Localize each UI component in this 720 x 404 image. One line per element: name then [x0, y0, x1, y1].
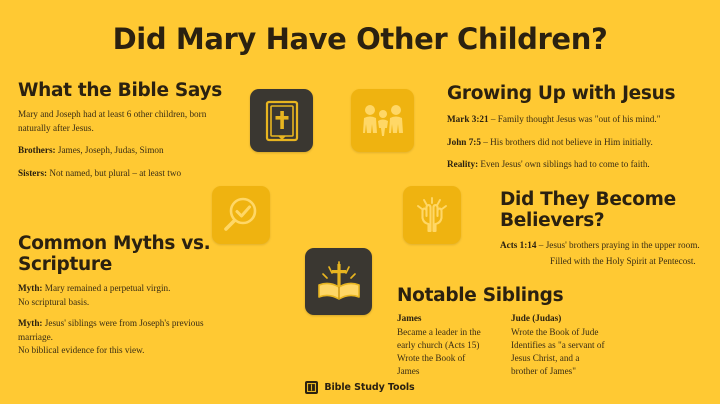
myth-1-rebuttal: No scriptural basis. — [18, 297, 89, 307]
sisters-value: Not named, but plural – at least two — [47, 168, 181, 178]
siblings-heading: Notable Siblings — [397, 285, 687, 306]
bible-says-heading: What the Bible Says — [18, 80, 233, 101]
believers-line-2: Filled with the Holy Spirit at Pentecost… — [500, 255, 705, 269]
reality-text: Even Jesus' own siblings had to come to … — [478, 159, 650, 169]
brothers-value: James, Joseph, Judas, Simon — [56, 145, 164, 155]
section-notable-siblings: Notable Siblings James Became a leader i… — [397, 285, 687, 378]
bible-says-body: Mary and Joseph had at least 6 other chi… — [18, 108, 233, 180]
growing-up-line-1: Mark 3:21 – Family thought Jesus was "ou… — [447, 113, 705, 127]
growing-up-body: Mark 3:21 – Family thought Jesus was "ou… — [447, 113, 705, 172]
acts-text: – Jesus' brothers praying in the upper r… — [537, 240, 700, 250]
bible-book-icon-glyph — [262, 99, 302, 143]
myth-2: Myth: Jesus' siblings were from Joseph's… — [18, 317, 214, 358]
believers-body: Acts 1:14 – Jesus' brothers praying in t… — [500, 239, 705, 268]
myth-2-text: Jesus' siblings were from Joseph's previ… — [18, 318, 204, 342]
reality-label: Reality: — [447, 159, 478, 169]
infographic-canvas: Did Mary Have Other Children? What the B… — [0, 0, 720, 404]
open-bible-cross-icon-glyph — [315, 259, 363, 305]
page-title: Did Mary Have Other Children? — [0, 22, 720, 56]
bible-says-brothers: Brothers: James, Joseph, Judas, Simon — [18, 144, 233, 158]
myth-1-label: Myth: — [18, 283, 43, 293]
book-mark-icon — [305, 381, 318, 394]
family-three-people-icon-glyph — [361, 101, 405, 141]
section-believers: Did They Become Believers? Acts 1:14 – J… — [500, 189, 705, 268]
sibling-column-jude: Jude (Judas) Wrote the Book of Jude Iden… — [511, 312, 631, 378]
sibling-james-line-4: James — [397, 365, 497, 378]
sibling-jude-line-4: brother of James" — [511, 365, 631, 378]
mark-reference: Mark 3:21 — [447, 114, 489, 124]
magnifier-check-icon-glyph — [221, 195, 261, 235]
siblings-columns: James Became a leader in the early churc… — [397, 312, 687, 378]
bible-says-sisters: Sisters: Not named, but plural – at leas… — [18, 167, 233, 181]
magnifier-check-icon — [212, 186, 270, 244]
acts-reference: Acts 1:14 — [500, 240, 537, 250]
book-mark-icon-glyph — [307, 383, 316, 392]
section-bible-says: What the Bible Says Mary and Joseph had … — [18, 80, 233, 180]
bible-says-intro: Mary and Joseph had at least 6 other chi… — [18, 108, 233, 135]
praying-hands-icon — [403, 186, 461, 244]
brothers-label: Brothers: — [18, 145, 56, 155]
believers-heading: Did They Become Believers? — [500, 189, 705, 231]
sibling-james-line-1: Became a leader in the — [397, 326, 497, 339]
growing-up-line-2: John 7:5 – His brothers did not believe … — [447, 136, 705, 150]
sibling-jude-line-3: Jesus Christ, and a — [511, 352, 631, 365]
sibling-jude-line-2: Identifies as "a servant of — [511, 339, 631, 352]
sibling-james-line-2: early church (Acts 15) — [397, 339, 497, 352]
john-reference: John 7:5 — [447, 137, 481, 147]
myths-heading: Common Myths vs. Scripture — [18, 233, 214, 275]
myths-body: Myth: Mary remained a perpetual virgin.N… — [18, 282, 214, 358]
sibling-column-james: James Became a leader in the early churc… — [397, 312, 497, 378]
bible-book-icon — [250, 89, 313, 152]
sibling-name-jude: Jude (Judas) — [511, 312, 631, 325]
sisters-label: Sisters: — [18, 168, 47, 178]
myth-2-label: Myth: — [18, 318, 43, 328]
growing-up-line-3: Reality: Even Jesus' own siblings had to… — [447, 158, 705, 172]
footer-brand-name: Bible Study Tools — [324, 382, 414, 393]
sibling-james-line-3: Wrote the Book of — [397, 352, 497, 365]
sibling-name-james: James — [397, 312, 497, 325]
john-text: – His brothers did not believe in Him in… — [481, 137, 653, 147]
praying-hands-icon-glyph — [411, 194, 453, 236]
section-myths: Common Myths vs. Scripture Myth: Mary re… — [18, 233, 214, 358]
sibling-jude-line-1: Wrote the Book of Jude — [511, 326, 631, 339]
family-three-people-icon — [351, 89, 414, 152]
section-growing-up: Growing Up with Jesus Mark 3:21 – Family… — [447, 83, 705, 172]
footer-branding: Bible Study Tools — [0, 381, 720, 394]
mark-text: – Family thought Jesus was "out of his m… — [489, 114, 661, 124]
myth-1-text: Mary remained a perpetual virgin. — [43, 283, 171, 293]
myth-2-rebuttal: No biblical evidence for this view. — [18, 345, 144, 355]
myth-1: Myth: Mary remained a perpetual virgin.N… — [18, 282, 214, 309]
open-bible-cross-icon — [305, 248, 372, 315]
growing-up-heading: Growing Up with Jesus — [447, 83, 705, 104]
believers-line-1: Acts 1:14 – Jesus' brothers praying in t… — [500, 239, 705, 253]
